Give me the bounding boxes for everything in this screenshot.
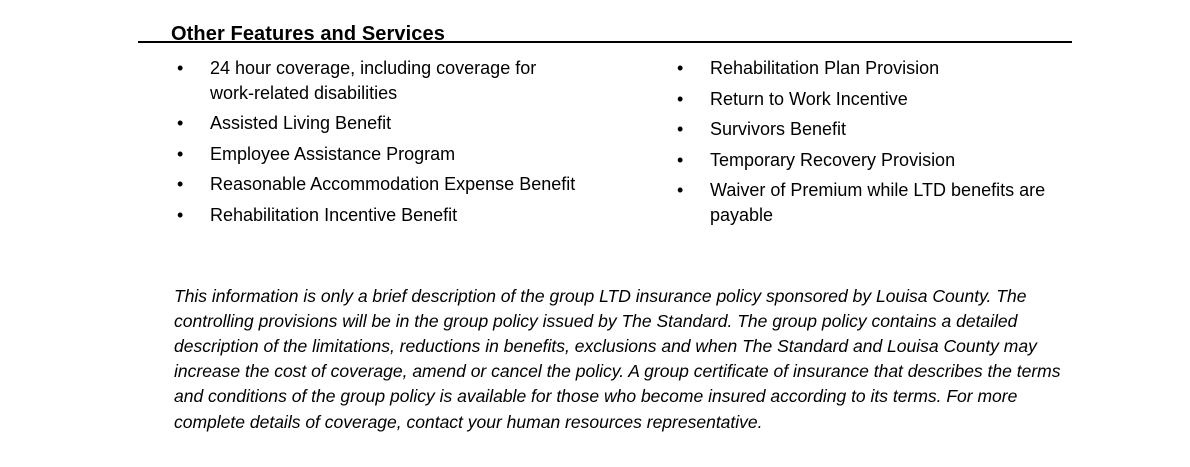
list-item-label: Temporary Recovery Provision bbox=[710, 148, 1076, 173]
list-item-label: Assisted Living Benefit bbox=[210, 111, 576, 136]
list-item-label: Employee Assistance Program bbox=[210, 142, 576, 167]
list-item: • Rehabilitation Plan Provision bbox=[676, 56, 1076, 81]
list-item-label: Reasonable Accommodation Expense Benefit bbox=[210, 172, 576, 197]
bullet-icon: • bbox=[177, 203, 191, 228]
list-item: • Assisted Living Benefit bbox=[176, 111, 576, 136]
list-item: • Rehabilitation Incentive Benefit bbox=[176, 203, 576, 228]
bullet-icon: • bbox=[677, 56, 691, 81]
list-item: • Reasonable Accommodation Expense Benef… bbox=[176, 172, 576, 197]
list-item: • Return to Work Incentive bbox=[676, 87, 1076, 112]
features-column-left: • 24 hour coverage, including coverage f… bbox=[176, 56, 576, 227]
list-item-label: Waiver of Premium while LTD benefits are… bbox=[710, 178, 1076, 227]
list-item: • Temporary Recovery Provision bbox=[676, 148, 1076, 173]
bullet-icon: • bbox=[677, 87, 691, 112]
bullet-icon: • bbox=[177, 111, 191, 136]
list-item-label: Rehabilitation Plan Provision bbox=[710, 56, 1076, 81]
feature-list-right: • Rehabilitation Plan Provision • Return… bbox=[676, 56, 1076, 227]
list-item: • Survivors Benefit bbox=[676, 117, 1076, 142]
heading-divider bbox=[138, 41, 1072, 43]
feature-list-left: • 24 hour coverage, including coverage f… bbox=[176, 56, 576, 227]
bullet-icon: • bbox=[677, 148, 691, 173]
list-item: • Waiver of Premium while LTD benefits a… bbox=[676, 178, 1076, 227]
bullet-icon: • bbox=[677, 117, 691, 142]
features-column-right: • Rehabilitation Plan Provision • Return… bbox=[676, 56, 1076, 227]
list-item-label: Return to Work Incentive bbox=[710, 87, 1076, 112]
disclaimer-paragraph: This information is only a brief descrip… bbox=[174, 284, 1066, 435]
bullet-icon: • bbox=[677, 178, 691, 203]
bullet-icon: • bbox=[177, 172, 191, 197]
list-item: • 24 hour coverage, including coverage f… bbox=[176, 56, 576, 105]
list-item: • Employee Assistance Program bbox=[176, 142, 576, 167]
list-item-label: 24 hour coverage, including coverage for… bbox=[210, 56, 576, 105]
list-item-label: Survivors Benefit bbox=[710, 117, 1076, 142]
bullet-icon: • bbox=[177, 142, 191, 167]
list-item-label: Rehabilitation Incentive Benefit bbox=[210, 203, 576, 228]
document-page: Other Features and Services • 24 hour co… bbox=[0, 0, 1190, 467]
bullet-icon: • bbox=[177, 56, 191, 81]
